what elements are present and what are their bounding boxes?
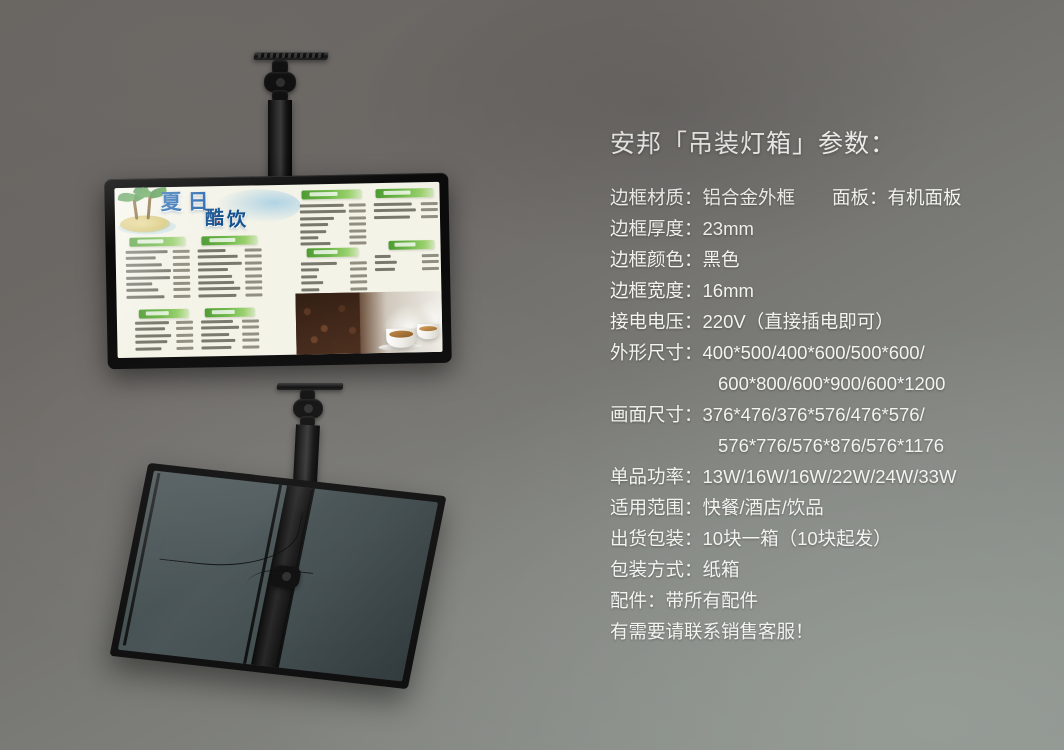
menu-row: [126, 294, 190, 298]
spec-list: 边框材质：铝合金外框 面板：有机面板 边框厚度：23mm 边框颜色：黑色 边框宽…: [610, 182, 1040, 647]
menu-row: [198, 280, 262, 284]
rear-rail-edge-right: [276, 488, 315, 667]
menu-row: [198, 287, 262, 291]
menu-row: [198, 255, 262, 259]
spec-line-display-size-cont: 576*776/576*876/576*1176: [610, 430, 1040, 461]
rear-back-panel: [118, 471, 438, 682]
menu-poster: 夏 日 酷 饮: [114, 182, 442, 358]
menu-row: [201, 345, 259, 349]
spec-line-display-size: 画面尺寸：376*476/376*576/476*576/: [610, 399, 1040, 430]
menu-row: [201, 319, 259, 323]
spec-line-outer-size-cont: 600*800/600*900/600*1200: [610, 368, 1040, 399]
coffee-cup-back: [417, 323, 439, 338]
section-header: [201, 235, 257, 245]
headline-char-4: 饮: [227, 211, 246, 230]
menu-right-half: [293, 182, 442, 355]
spec-line-accessories: 配件：带所有配件: [610, 585, 1040, 616]
coffee-beans-image: [295, 292, 361, 354]
menu-item-rows: [198, 248, 263, 300]
headline-char-3: 酷: [205, 209, 224, 228]
menu-row: [135, 327, 193, 331]
section-header: [205, 307, 255, 317]
menu-row: [126, 288, 190, 292]
spec-line-frame-color: 边框颜色：黑色: [610, 244, 1040, 275]
upper-pivot-joint: [264, 72, 296, 92]
menu-row: [126, 269, 190, 273]
menu-row: [201, 326, 259, 330]
section-header: [301, 189, 361, 199]
light-box-rear-view: [109, 463, 446, 689]
menu-item-rows: [299, 203, 366, 249]
menu-row: [198, 267, 262, 271]
section-header: [306, 247, 358, 257]
menu-row: [300, 222, 366, 226]
spec-line-power: 单品功率：13W/16W/16W/22W/24W/33W: [610, 461, 1040, 492]
menu-row: [300, 242, 366, 246]
menu-item-rows: [373, 202, 437, 222]
headline-char-1: 夏: [160, 192, 181, 213]
menu-row: [135, 340, 193, 344]
menu-left-half: 夏 日 酷 饮: [114, 185, 296, 358]
section-header: [129, 237, 185, 247]
menu-row: [301, 261, 367, 265]
section-header: [375, 188, 433, 198]
coffee-photo: [295, 291, 442, 355]
section-header: [139, 309, 189, 319]
menu-headline: 夏 日 酷 饮: [158, 189, 289, 237]
rear-center-bracket-rail: [251, 485, 313, 667]
power-cable-tail: [245, 566, 313, 603]
spec-line-shipping-package: 出货包装：10块一箱（10块起发）: [610, 523, 1040, 554]
rear-pivot-joint: [270, 565, 302, 590]
menu-row: [375, 260, 439, 264]
menu-row: [299, 203, 365, 207]
power-cable: [159, 498, 303, 575]
menu-row: [301, 287, 367, 291]
menu-row: [126, 256, 190, 260]
section-header: [388, 240, 434, 250]
spec-line-frame-thickness: 边框厚度：23mm: [610, 213, 1040, 244]
spec-line-voltage: 接电电压：220V（直接插电即可）: [610, 306, 1040, 337]
menu-row: [198, 261, 262, 265]
coffee-cup-front: [386, 328, 416, 348]
menu-row: [374, 208, 438, 212]
menu-row: [126, 262, 190, 266]
spec-line-outer-size: 外形尺寸：400*500/400*600/500*600/: [610, 337, 1040, 368]
menu-row: [135, 333, 193, 337]
menu-row: [201, 339, 259, 343]
spec-line-frame-width: 边框宽度：16mm: [610, 275, 1040, 306]
product-photo-scene: 夏 日 酷 饮: [0, 0, 1064, 750]
menu-row: [301, 274, 367, 278]
spec-line-frame-material: 边框材质：铝合金外框 面板：有机面板: [610, 182, 1040, 213]
menu-row: [374, 215, 438, 219]
menu-item-rows: [126, 250, 191, 302]
menu-item-rows: [301, 261, 368, 294]
menu-row: [300, 229, 366, 233]
menu-row: [374, 254, 438, 258]
rear-rail-edge-left: [243, 485, 282, 664]
menu-row: [126, 275, 190, 279]
menu-row: [373, 202, 437, 206]
ceiling-plate-screw-holes: [258, 53, 325, 58]
menu-item-rows: [135, 321, 194, 354]
specification-panel: 安邦「吊装灯箱」参数： 边框材质：铝合金外框 面板：有机面板 边框厚度：23mm…: [610, 124, 1040, 647]
illuminated-light-box: 夏 日 酷 饮: [104, 173, 452, 370]
menu-row: [300, 235, 366, 239]
menu-item-rows: [201, 319, 260, 352]
menu-row: [126, 250, 190, 254]
menu-row: [375, 267, 439, 271]
menu-row: [135, 321, 193, 325]
menu-row: [300, 216, 366, 220]
menu-row: [198, 248, 262, 252]
spec-line-applications: 适用范围：快餐/酒店/饮品: [610, 492, 1040, 523]
menu-item-rows: [374, 254, 438, 274]
menu-row: [301, 268, 367, 272]
menu-row: [198, 274, 262, 278]
spec-line-packaging-method: 包装方式：纸箱: [610, 554, 1040, 585]
page-title: 安邦「吊装灯箱」参数：: [610, 124, 1040, 160]
menu-row: [135, 346, 193, 350]
menu-row: [126, 282, 190, 286]
spec-line-contact-note: 有需要请联系销售客服！: [610, 616, 1040, 647]
menu-row: [201, 332, 259, 336]
menu-row: [198, 293, 262, 297]
menu-row: [300, 210, 366, 214]
menu-row: [301, 280, 367, 284]
